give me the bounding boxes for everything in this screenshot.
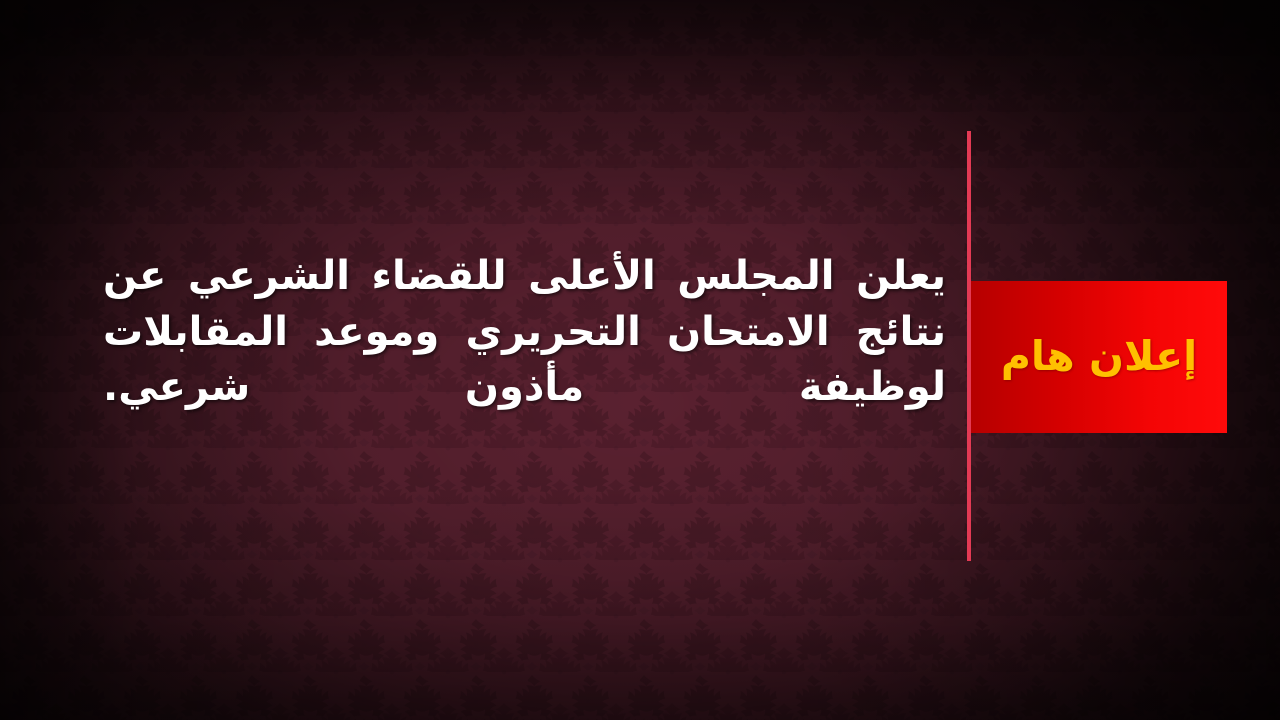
callout-label: إعلان هام xyxy=(1001,334,1197,379)
headline-text: يعلن المجلس الأعلى للقضاء الشرعي عن نتائ… xyxy=(103,249,946,416)
announcement-slide: يعلن المجلس الأعلى للقضاء الشرعي عن نتائ… xyxy=(0,0,1280,720)
callout-box: إعلان هام xyxy=(971,281,1227,433)
